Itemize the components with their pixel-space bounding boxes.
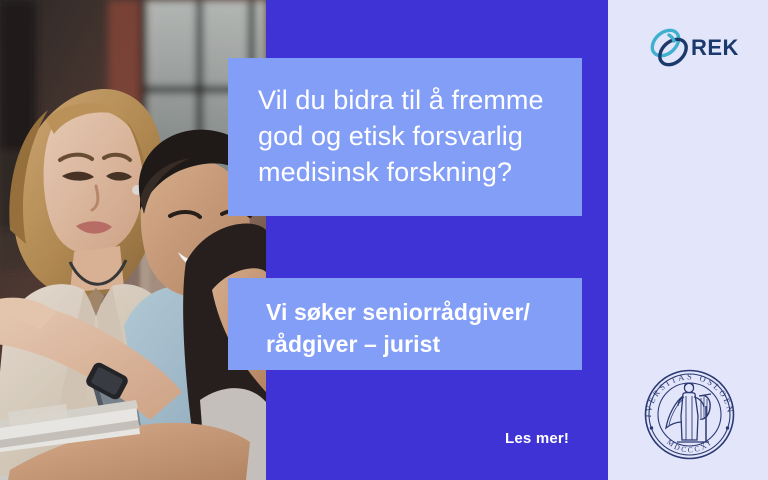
headline-text: Vil du bidra til å fremme god og etisk f… bbox=[258, 82, 556, 190]
team-photo bbox=[0, 0, 266, 480]
seal-dot-right bbox=[726, 426, 729, 429]
apollo-figure-icon bbox=[666, 383, 711, 442]
recruitment-banner: Vil du bidra til å fremme god og etisk f… bbox=[0, 0, 768, 480]
read-more-link[interactable]: Les mer! bbox=[505, 430, 569, 447]
rek-logo-svg: REK bbox=[647, 26, 743, 70]
rek-wordmark: REK bbox=[691, 35, 739, 60]
uio-seal: UNIVERSITAS OSLOENSIS MDCCCXI bbox=[637, 362, 742, 467]
rek-logo[interactable]: REK bbox=[647, 26, 743, 70]
headline-box: Vil du bidra til å fremme god og etisk f… bbox=[228, 58, 582, 216]
job-role-box: Vi søker seniorrådgiver/ rådgiver – juri… bbox=[228, 278, 582, 370]
job-role-text: Vi søker seniorrådgiver/ rådgiver – juri… bbox=[266, 296, 562, 360]
team-photo-image bbox=[0, 0, 266, 480]
uio-seal-svg: UNIVERSITAS OSLOENSIS MDCCCXI bbox=[637, 362, 742, 467]
rek-interlocking-rings-icon bbox=[647, 26, 691, 70]
seal-dot-left bbox=[650, 426, 653, 429]
